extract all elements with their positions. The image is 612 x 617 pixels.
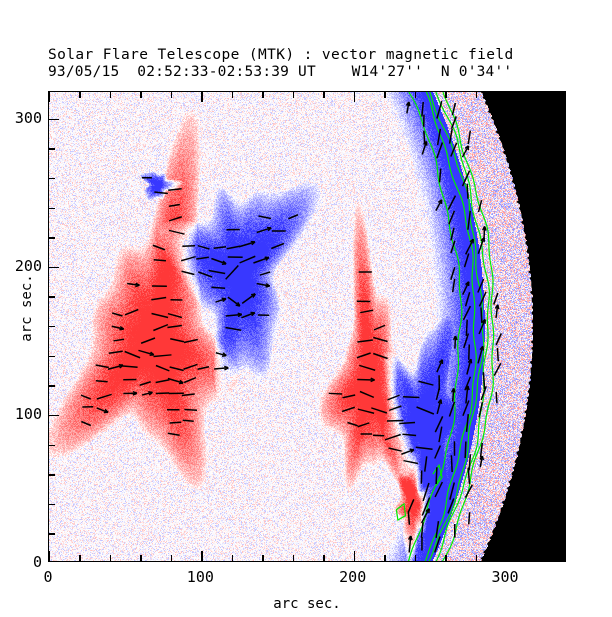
tick-top: [354, 92, 355, 102]
tick-right: [559, 533, 565, 534]
tick-top: [293, 92, 294, 98]
tick-left: [49, 178, 55, 179]
tick-top: [201, 92, 202, 102]
tick-top: [537, 92, 538, 98]
tick-right: [559, 385, 565, 386]
tick-left: [49, 445, 55, 446]
tick-top: [171, 92, 172, 98]
tick-top: [79, 92, 80, 98]
tick-top: [232, 92, 233, 98]
tick-bottom: [415, 555, 416, 561]
tick-bottom: [201, 551, 202, 561]
x-tick-label: 100: [165, 568, 235, 586]
tick-bottom: [262, 555, 263, 561]
tick-bottom: [79, 555, 80, 561]
tick-top: [262, 92, 263, 98]
tick-bottom: [384, 555, 385, 561]
tick-bottom: [110, 555, 111, 561]
tick-top: [323, 92, 324, 98]
y-tick-label: 100: [0, 405, 42, 423]
tick-left: [49, 356, 55, 357]
tick-top: [415, 92, 416, 98]
tick-bottom: [232, 555, 233, 561]
tick-right: [555, 119, 565, 120]
tick-left: [49, 385, 55, 386]
tick-right: [559, 445, 565, 446]
tick-left: [49, 208, 55, 209]
y-axis-title: arc sec.: [19, 253, 35, 363]
tick-left: [49, 296, 55, 297]
y-tick-label: 0: [0, 553, 42, 571]
magnetogram-image: [49, 92, 565, 561]
figure-title-line-2: 93/05/15 02:52:33-02:53:39 UT W14'27'' N…: [48, 64, 588, 81]
x-axis-title: arc sec.: [48, 596, 566, 612]
tick-right: [559, 296, 565, 297]
x-tick-label: 200: [318, 568, 388, 586]
tick-top: [476, 92, 477, 98]
tick-right: [555, 415, 565, 416]
tick-top: [110, 92, 111, 98]
tick-right: [559, 237, 565, 238]
tick-bottom: [140, 555, 141, 561]
tick-left: [49, 237, 55, 238]
magnetogram-plot-area: [48, 91, 566, 562]
y-tick-label: 300: [0, 109, 42, 127]
tick-left: [49, 474, 55, 475]
figure-title-block: Solar Flare Telescope (MTK) : vector mag…: [48, 47, 588, 81]
tick-right: [559, 474, 565, 475]
tick-right: [559, 326, 565, 327]
tick-left: [49, 415, 59, 416]
tick-left: [49, 119, 59, 120]
tick-bottom: [445, 555, 446, 561]
tick-bottom: [354, 551, 355, 561]
tick-bottom: [171, 555, 172, 561]
tick-left: [49, 267, 59, 268]
tick-bottom: [476, 555, 477, 561]
magnetogram-figure: Solar Flare Telescope (MTK) : vector mag…: [0, 0, 612, 617]
tick-right: [559, 356, 565, 357]
tick-right: [559, 148, 565, 149]
tick-top: [384, 92, 385, 98]
x-tick-label: 300: [470, 568, 540, 586]
tick-left: [49, 148, 55, 149]
tick-top: [506, 92, 507, 102]
tick-bottom: [537, 555, 538, 561]
tick-bottom: [506, 551, 507, 561]
tick-bottom: [293, 555, 294, 561]
tick-left: [49, 533, 55, 534]
tick-top: [140, 92, 141, 98]
tick-right: [559, 208, 565, 209]
tick-right: [559, 504, 565, 505]
tick-top: [49, 92, 50, 102]
figure-title-line-1: Solar Flare Telescope (MTK) : vector mag…: [48, 47, 588, 64]
tick-left: [49, 504, 55, 505]
tick-top: [445, 92, 446, 98]
tick-right: [559, 178, 565, 179]
tick-left: [49, 326, 55, 327]
tick-right: [555, 267, 565, 268]
tick-bottom: [323, 555, 324, 561]
tick-bottom: [49, 551, 50, 561]
